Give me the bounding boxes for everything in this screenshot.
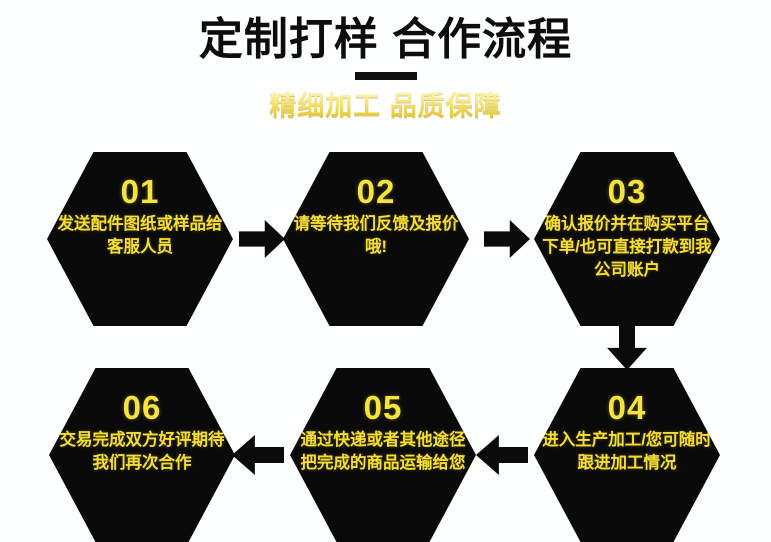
- step-description: 请等待我们反馈及报价哦!: [291, 213, 461, 259]
- step-number: 01: [121, 174, 160, 210]
- step-description: 发送配件图纸或样品给客服人员: [55, 213, 225, 259]
- page-subtitle: 精细加工 品质保障: [0, 89, 771, 123]
- arrow-right-icon-02-to-03: [484, 220, 530, 258]
- step-number: 03: [608, 174, 647, 210]
- flow-step-06: 06 交易完成双方好评期待我们再次合作: [49, 368, 235, 542]
- step-description: 交易完成双方好评期待我们再次合作: [53, 429, 231, 475]
- step-number: 04: [608, 390, 647, 426]
- flow-step-04: 04 进入生产加工/您可随时跟进加工情况: [534, 368, 720, 542]
- step-number: 05: [364, 390, 403, 426]
- step-description: 进入生产加工/您可随时跟进加工情况: [538, 429, 716, 475]
- step-description: 通过快递或者其他途径把完成的商品运输给您: [298, 429, 468, 475]
- step-number: 02: [357, 174, 396, 210]
- arrow-down-icon-03-to-04: [607, 322, 647, 370]
- arrow-left-icon-04-to-05: [476, 435, 528, 475]
- process-flow-diagram: 01 发送配件图纸或样品给客服人员 02 请等待我们反馈及报价哦! 03 确认报…: [0, 132, 771, 542]
- title-divider: [355, 72, 417, 80]
- step-description: 确认报价并在购买平台下单/也可直接打款到我公司账户: [538, 213, 716, 282]
- header: 定制打样 合作流程 精细加工 品质保障: [0, 0, 771, 132]
- step-number: 06: [123, 390, 162, 426]
- flow-step-02: 02 请等待我们反馈及报价哦!: [283, 152, 469, 326]
- flow-step-05: 05 通过快递或者其他途径把完成的商品运输给您: [290, 368, 476, 542]
- flow-step-03: 03 确认报价并在购买平台下单/也可直接打款到我公司账户: [534, 152, 720, 326]
- page-title: 定制打样 合作流程: [0, 14, 771, 66]
- arrow-left-icon-05-to-06: [232, 435, 284, 475]
- arrow-right-icon-01-to-02: [239, 220, 285, 258]
- flow-step-01: 01 发送配件图纸或样品给客服人员: [47, 152, 233, 326]
